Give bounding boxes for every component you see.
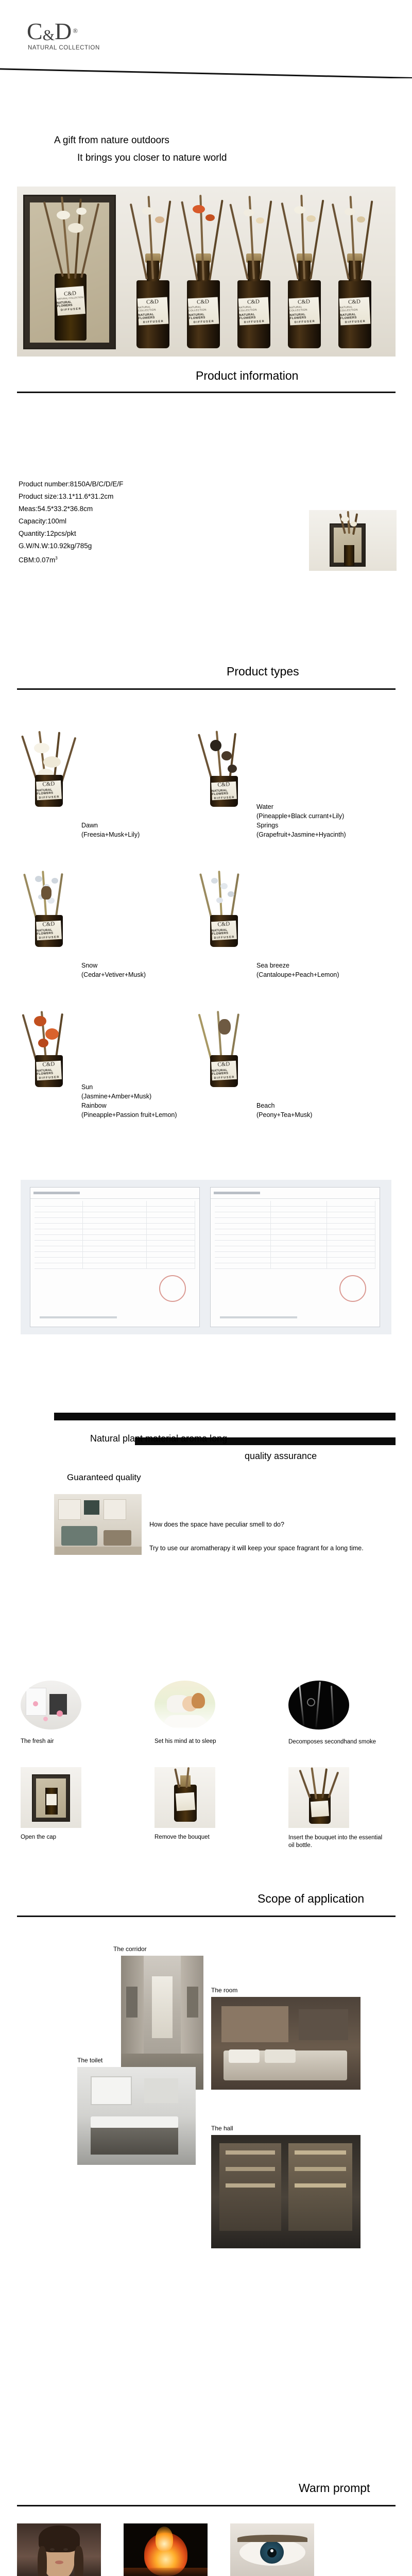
product-type-notes: (Jasmine+Amber+Musk) [81, 1092, 151, 1101]
benefit-image-fresh-air [21, 1681, 81, 1730]
product-type-name: Beach [256, 1101, 274, 1110]
logo-mark: C & D ® [27, 20, 100, 43]
product-type-image: C&D NATURAL FLOWERS DIFFUSER [196, 1011, 252, 1088]
header-diagonal-divider [0, 66, 412, 78]
step-image-insert-the-bouquet [288, 1767, 349, 1828]
benefit-caption-smoke: Decomposes secondhand smoke [288, 1738, 381, 1746]
bottle-line2: DIFFUSER [194, 319, 215, 324]
bottle-brand-sub: NATURAL COLLECTION [138, 304, 168, 312]
bottle-line1: NATURAL FLOWERS [212, 1069, 237, 1076]
bottle-line2: DIFFUSER [214, 796, 235, 800]
product-type-notes: (Pineapple+Black currant+Lily) [256, 812, 344, 821]
spec-cbm-text: CBM:0.07m [19, 556, 55, 564]
bottle-brand: C&D [298, 299, 310, 305]
step-image-open-the-cap [21, 1767, 81, 1828]
product-type-name: Water [256, 803, 273, 811]
spec-row-quantity: Quantity:12pcs/pkt [19, 528, 123, 540]
bottle-brand-sub: NATURAL COLLECTION [238, 304, 269, 312]
bottle-line1: NATURAL FLOWERS [212, 928, 237, 936]
scope-image-room [211, 1997, 360, 2090]
section-title-product-types: Product types [227, 665, 299, 679]
product-type-notes: (Cedar+Vetiver+Musk) [81, 971, 146, 979]
quality-bar-top [54, 1413, 396, 1420]
gift-box: C&D NATURAL COLLECTION NATURAL FLOWERS D… [23, 195, 116, 349]
product-type-image: C&D NATURAL FLOWERS DIFFUSER [196, 731, 252, 808]
product-bottle: C&D NATURAL COLLECTION NATURAL FLOWERS D… [288, 280, 321, 348]
box-bottle-line2: DIFFUSER [61, 308, 82, 312]
scope-label-hall: The hall [211, 2125, 233, 2132]
brand-tagline: NATURAL COLLECTION [28, 45, 100, 51]
bottle-line2: DIFFUSER [295, 319, 316, 324]
bottle-brand: C&D [42, 781, 55, 787]
product-type-notes: (Peony+Tea+Musk) [256, 1111, 312, 1120]
scope-label-corridor: The corridor [113, 1945, 147, 1953]
bottle-line1: NATURAL FLOWERS [37, 928, 62, 936]
product-type-name: Rainbow [81, 1101, 107, 1110]
bottle-line1: NATURAL FLOWERS [37, 1069, 62, 1076]
hero-headline-secondary: It brings you closer to nature world [77, 152, 227, 164]
product-type-beach: C&D NATURAL FLOWERS DIFFUSER Beach (Peon… [196, 1011, 252, 1088]
step-caption-insert-the-bouquet: Insert the bouquet into the essential oi… [288, 1834, 386, 1850]
hero-product-photo: C&D NATURAL COLLECTION NATURAL FLOWERS D… [17, 187, 396, 357]
certificate-stamp-icon [339, 1275, 366, 1302]
warning-image-do-not-eat [17, 2523, 101, 2576]
registered-trademark-icon: ® [73, 27, 78, 34]
bottle-brand: C&D [348, 299, 360, 305]
logo-ampersand: & [43, 28, 55, 43]
benefit-caption-fresh-air: The fresh air [21, 1738, 54, 1744]
packaging-photo [309, 510, 397, 571]
bottle-line1: NATURAL FLOWERS [138, 312, 168, 320]
product-type-name: Springs [256, 821, 278, 830]
bottle-line2: DIFFUSER [214, 936, 235, 940]
box-bottle-line1: NATURAL FLOWERS [57, 300, 85, 308]
product-type-snow: C&D NATURAL FLOWERS DIFFUSER Snow (Cedar… [21, 871, 77, 948]
step-caption-open-the-cap: Open the cap [21, 1834, 56, 1840]
product-bottle: C&D NATURAL COLLECTION NATURAL FLOWERS D… [187, 280, 220, 348]
product-type-image: C&D NATURAL FLOWERS DIFFUSER [21, 1011, 77, 1088]
section-title-scope: Scope of application [257, 1892, 364, 1906]
bottle-line2: DIFFUSER [244, 319, 265, 324]
bottle-brand: C&D [217, 782, 230, 788]
quality-answer: Try to use our aromatherapy it will keep… [149, 1544, 366, 1553]
benefit-image-smoke [288, 1681, 349, 1730]
spec-row-capacity: Capacity:100ml [19, 515, 123, 528]
bottle-line2: DIFFUSER [214, 1076, 235, 1080]
bottle-brand: C&D [217, 1061, 230, 1067]
section-title-warm-prompt: Warm prompt [299, 2481, 370, 2495]
benefit-caption-sleep: Set his mind at to sleep [154, 1738, 216, 1744]
bottle-line1: NATURAL FLOWERS [188, 312, 219, 320]
product-type-sea-breeze: C&D NATURAL FLOWERS DIFFUSER Sea breeze … [196, 871, 252, 948]
scope-image-toilet [77, 2067, 196, 2165]
box-bottle-brand-sub: NATURAL COLLECTION [57, 296, 83, 300]
spec-row-weight: G.W/N.W:10.92kg/785g [19, 540, 123, 552]
product-type-sun-rainbow: C&D NATURAL FLOWERS DIFFUSER Sun (Jasmin… [21, 1011, 77, 1088]
product-types-divider [17, 688, 396, 690]
bottle-line2: DIFFUSER [39, 795, 60, 800]
bottle-line2: DIFFUSER [39, 1076, 60, 1080]
step-image-remove-the-bouquet [154, 1767, 215, 1828]
scope-divider [17, 1916, 396, 1917]
certificate-right [210, 1187, 380, 1327]
bottle-brand-sub: NATURAL COLLECTION [339, 304, 370, 312]
bottle-line1: NATURAL FLOWERS [212, 789, 237, 796]
spec-row-product-size: Product size:13.1*11.6*31.2cm [19, 490, 123, 503]
bottle-brand: C&D [42, 921, 55, 927]
product-type-image: C&D NATURAL FLOWERS DIFFUSER [196, 871, 252, 948]
certificate-stamp-icon [159, 1275, 186, 1302]
product-type-notes: (Cantaloupe+Peach+Lemon) [256, 971, 339, 979]
bottle-line1: NATURAL FLOWERS [239, 312, 269, 320]
hero-headline-primary: A gift from nature outdoors [54, 135, 169, 146]
product-type-name: Sun [81, 1083, 93, 1092]
spec-cbm-exponent: 3 [55, 556, 57, 561]
quality-headline-2: quality assurance [245, 1451, 317, 1462]
product-type-notes: (Freesia+Musk+Lily) [81, 831, 140, 839]
scope-label-room: The room [211, 1987, 237, 1994]
bottle-line2: DIFFUSER [39, 936, 60, 940]
spec-row-product-number: Product number:8150A/B/C/D/E/F [19, 478, 123, 490]
living-room-photo [54, 1494, 142, 1555]
bottle-line1: NATURAL FLOWERS [289, 312, 320, 320]
product-type-name: Dawn [81, 821, 98, 830]
product-bottle: C&D NATURAL COLLECTION NATURAL FLOWERS D… [237, 280, 270, 348]
scope-image-hall [211, 2135, 360, 2248]
bottle-brand: C&D [217, 921, 230, 927]
product-type-name: Sea breeze [256, 961, 289, 970]
bottle-line1: NATURAL FLOWERS [37, 788, 62, 795]
logo-letter-d: D [55, 20, 72, 43]
product-type-dawn: C&D NATURAL FLOWERS DIFFUSER Dawn (Frees… [21, 731, 77, 808]
bottle-brand: C&D [247, 299, 260, 305]
product-bottle: C&D NATURAL COLLECTION NATURAL FLOWERS D… [136, 280, 169, 348]
bottle-brand: C&D [197, 299, 209, 305]
product-type-image: C&D NATURAL FLOWERS DIFFUSER [21, 871, 77, 948]
benefit-image-sleep [154, 1681, 215, 1730]
warning-image-away-from-eyes [230, 2523, 314, 2576]
bottle-line1: NATURAL FLOWERS [340, 312, 370, 320]
certificate-left [30, 1187, 200, 1327]
section-title-product-information: Product information [196, 369, 298, 383]
quality-subtitle: Guaranteed quality [67, 1472, 141, 1483]
product-type-image: C&D NATURAL FLOWERS DIFFUSER [21, 731, 77, 808]
product-bottle: C&D NATURAL COLLECTION NATURAL FLOWERS D… [338, 280, 371, 348]
product-type-notes: (Grapefruit+Jasmine+Hyacinth) [256, 831, 346, 839]
bottle-line2: DIFFUSER [345, 319, 366, 324]
product-type-name: Snow [81, 961, 97, 970]
product-type-water-springs: C&D NATURAL FLOWERS DIFFUSER Water (Pine… [196, 731, 252, 808]
bottle-brand: C&D [42, 1061, 55, 1067]
bottle-brand: C&D [146, 299, 159, 305]
scope-label-toilet: The toilet [77, 2057, 102, 2064]
product-detail-page: C & D ® NATURAL COLLECTION A gift from n… [0, 0, 412, 2576]
warm-prompt-divider [17, 2505, 396, 2506]
warning-image-fire-source [124, 2523, 208, 2576]
brand-logo: C & D ® NATURAL COLLECTION [27, 20, 100, 51]
certificate-documents [21, 1180, 391, 1334]
step-caption-remove-the-bouquet: Remove the bouquet [154, 1834, 210, 1840]
quality-question: How does the space have peculiar smell t… [149, 1520, 366, 1530]
logo-letter-c: C [27, 20, 43, 43]
product-information-divider [17, 392, 396, 393]
bottle-brand-sub: NATURAL COLLECTION [289, 304, 319, 312]
product-type-notes: (Pineapple+Passion fruit+Lemon) [81, 1111, 177, 1120]
bottle-line2: DIFFUSER [143, 319, 164, 324]
bottle-brand-sub: NATURAL COLLECTION [188, 304, 218, 312]
spec-row-meas: Meas:54.5*33.2*36.8cm [19, 503, 123, 515]
quality-headline-1: Natural plant material aroma long [90, 1433, 227, 1444]
spec-row-cbm: CBM:0.07m3 [19, 552, 123, 567]
product-spec-list: Product number:8150A/B/C/D/E/F Product s… [19, 478, 123, 567]
